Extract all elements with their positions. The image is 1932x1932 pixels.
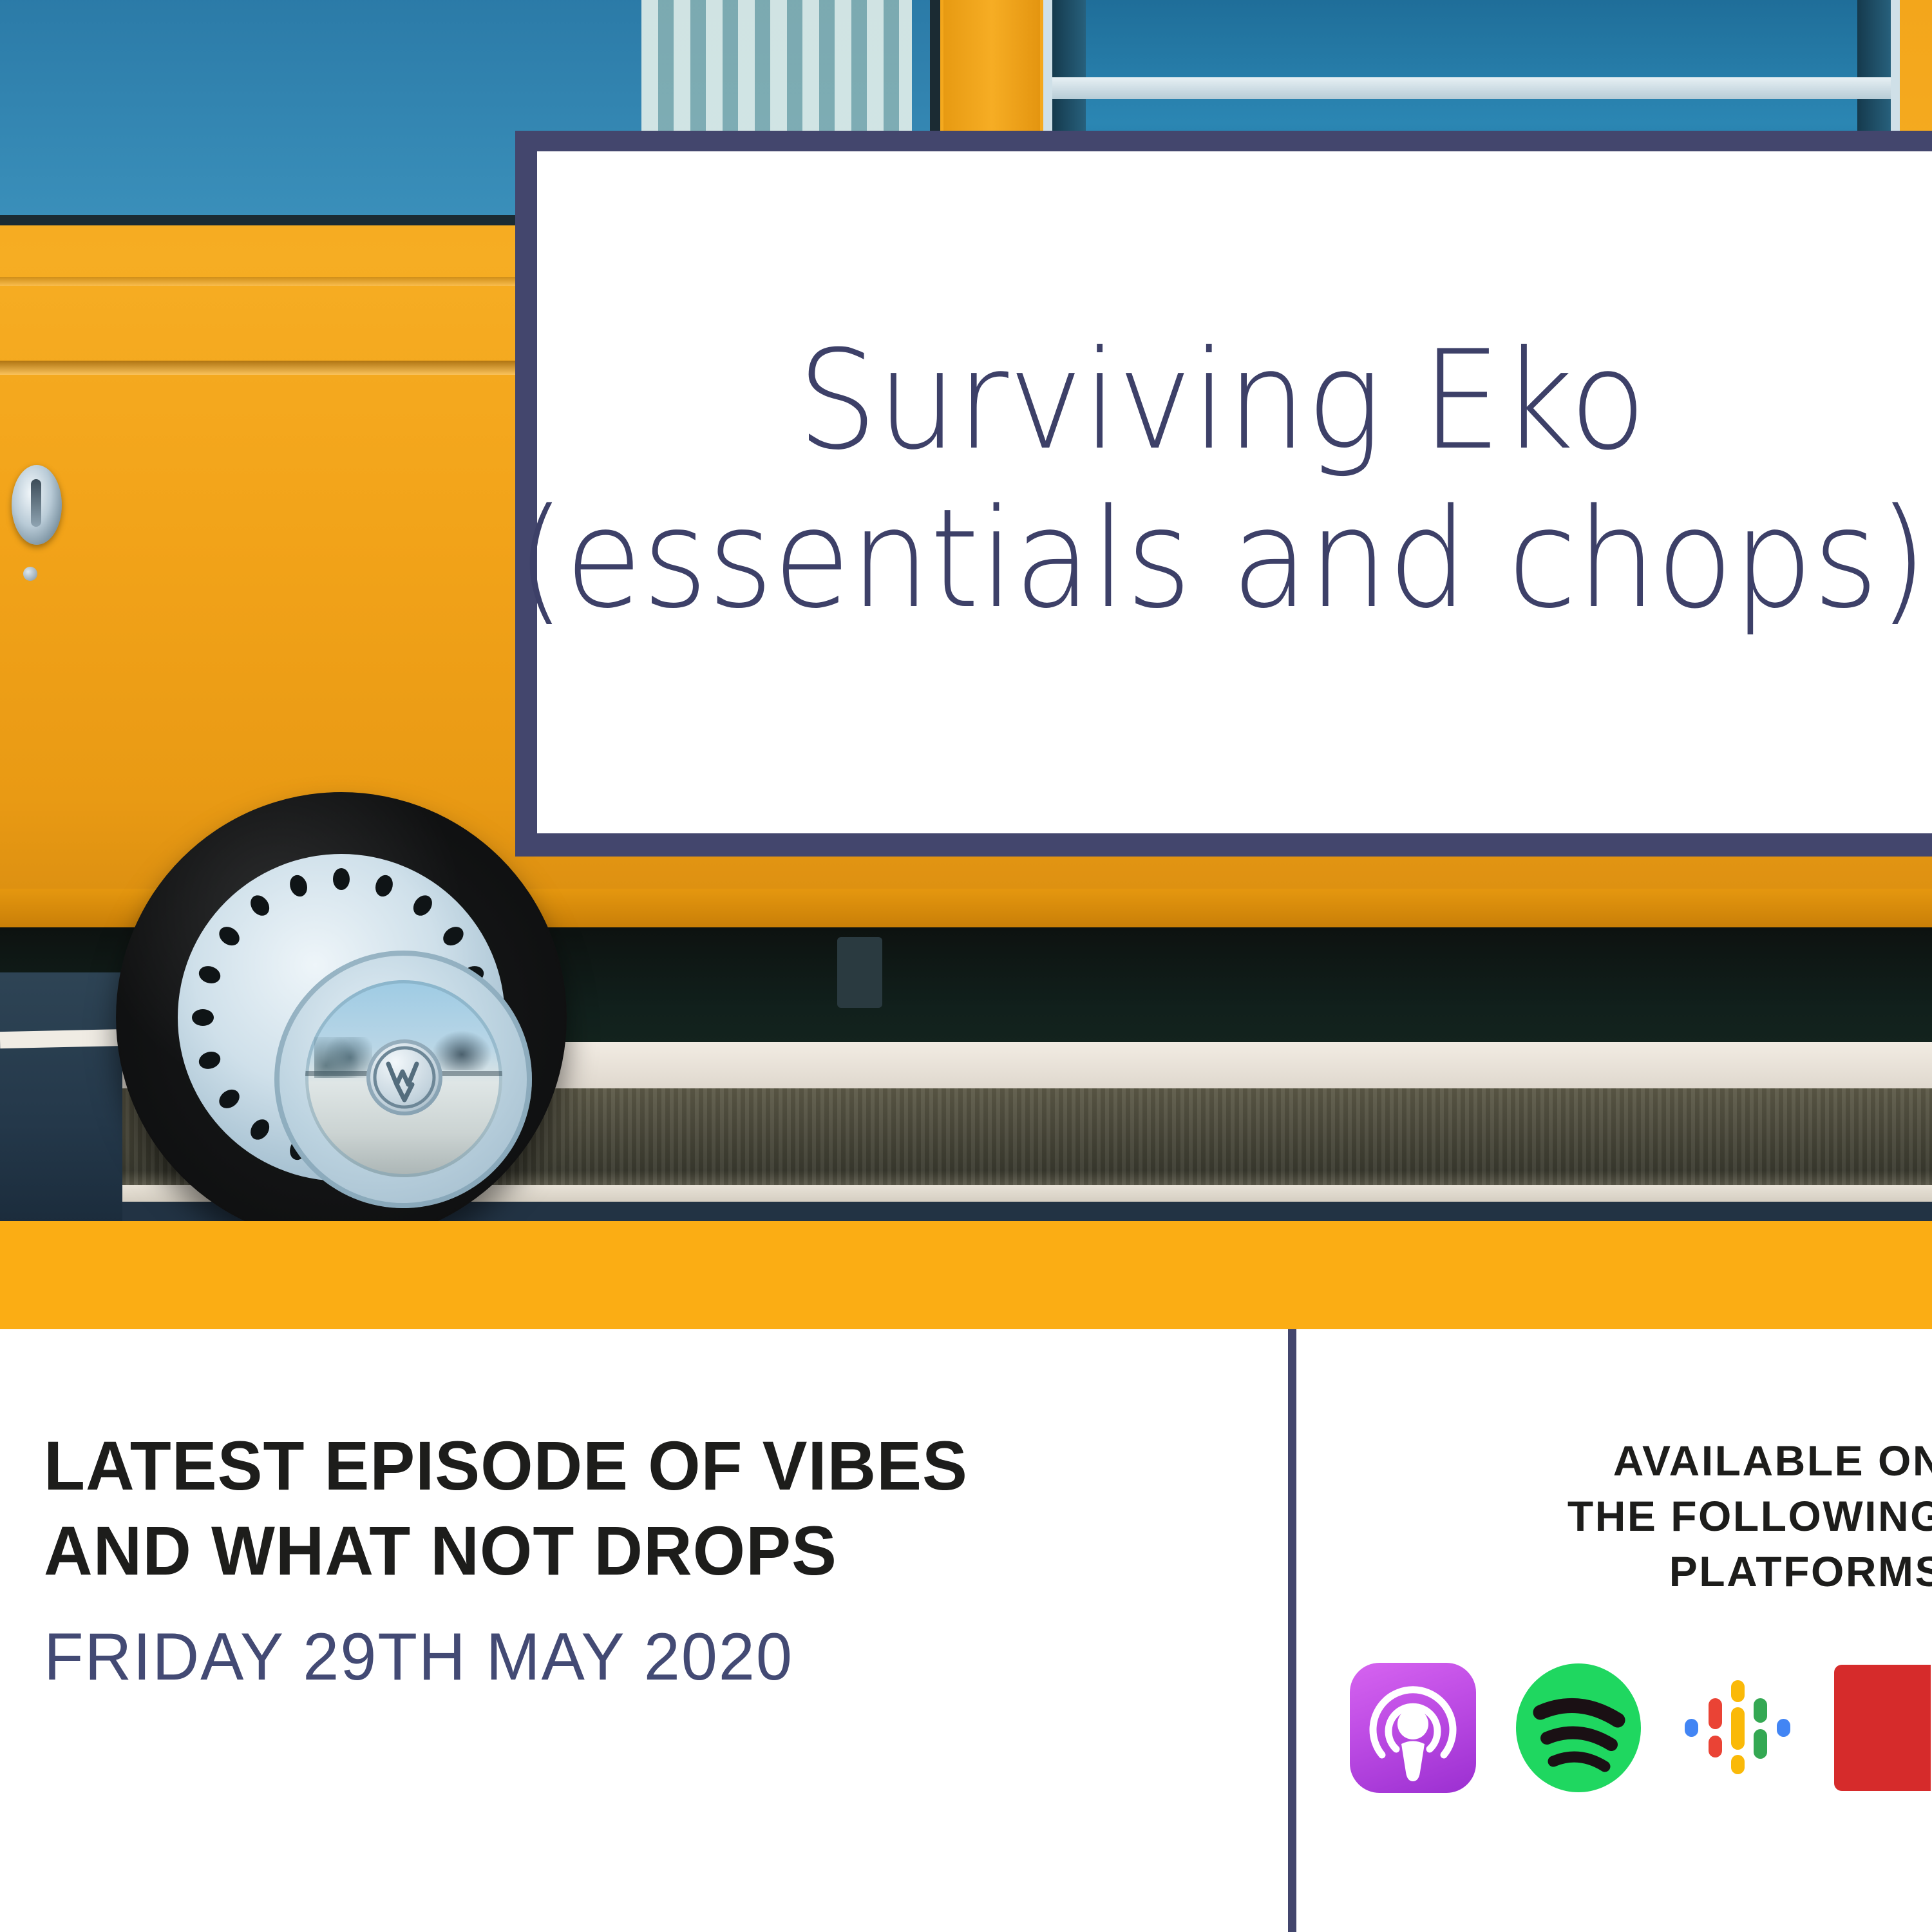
platform-icon-row	[1350, 1663, 1931, 1793]
podcast-cover-poster: Surviving Eko (essentials and chops) LAT…	[0, 0, 1932, 1932]
wheel-rim	[178, 854, 505, 1181]
episode-title-card-inner: Surviving Eko (essentials and chops)	[537, 151, 1932, 833]
apple-podcasts-icon[interactable]	[1350, 1663, 1476, 1793]
availability-line-3: PLATFORMS	[1327, 1544, 1932, 1600]
orange-accent-band	[0, 1221, 1932, 1329]
episode-headline-line-1: LATEST EPISODE OF VIBES	[44, 1423, 1212, 1508]
availability-block: AVAILABLE ON THE FOLLOWING PLATFORMS	[1327, 1434, 1932, 1599]
red-platform-icon[interactable]	[1834, 1665, 1931, 1791]
episode-headline-line-2: AND WHAT NOT DROPS	[44, 1508, 1212, 1593]
vertical-divider	[1288, 1329, 1296, 1932]
van-door-handle	[12, 465, 62, 545]
road-marking-line	[0, 1029, 129, 1048]
episode-title-line-2: (essentials and chops)	[516, 482, 1927, 635]
vw-logo-icon	[366, 1039, 442, 1115]
spotify-icon[interactable]	[1516, 1663, 1641, 1792]
van-axle-part	[837, 937, 882, 1008]
episode-meta-block: LATEST EPISODE OF VIBES AND WHAT NOT DRO…	[44, 1423, 1248, 1696]
van-door-screw	[23, 567, 37, 581]
episode-release-date: FRIDAY 29TH MAY 2020	[44, 1619, 1212, 1696]
episode-title-card: Surviving Eko (essentials and chops)	[515, 131, 1932, 857]
van-window-chrome-bar-upper	[1052, 77, 1891, 99]
van-wheel	[116, 792, 567, 1221]
hubcap-reflection-trees	[314, 1037, 372, 1078]
road-surface-left	[0, 972, 122, 1221]
google-podcasts-icon[interactable]	[1681, 1671, 1794, 1785]
episode-title-line-1: Surviving Eko	[797, 324, 1646, 477]
availability-line-1: AVAILABLE ON	[1327, 1434, 1932, 1489]
availability-line-2: THE FOLLOWING	[1327, 1489, 1932, 1544]
wheel-hubcap	[305, 980, 502, 1177]
van-window-bag	[19, 0, 167, 167]
van-window-plaid-curtain	[322, 0, 425, 180]
